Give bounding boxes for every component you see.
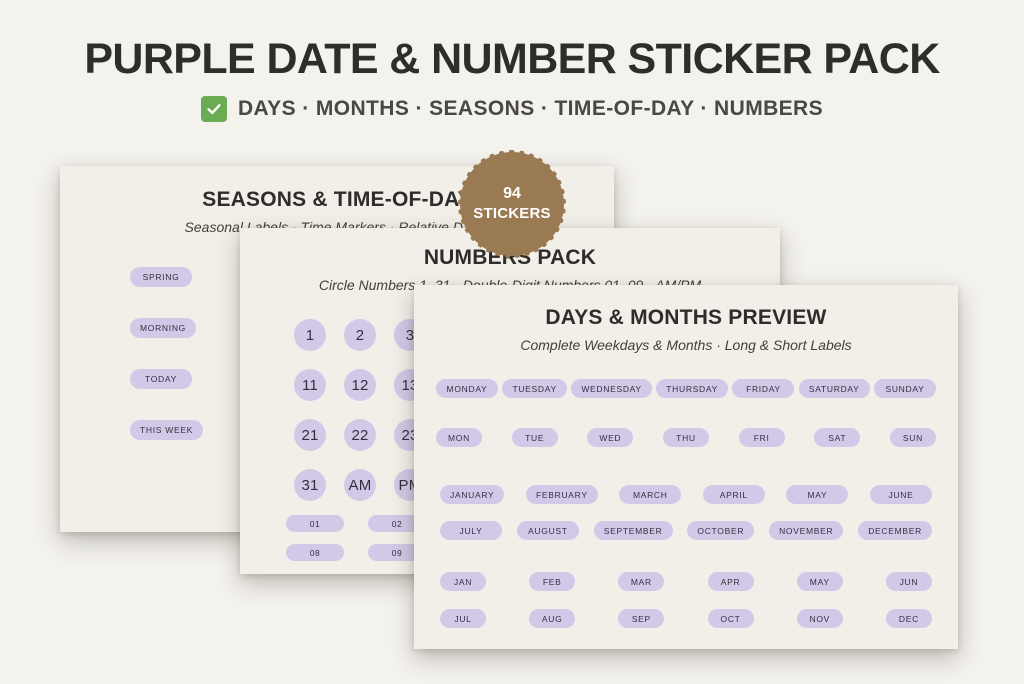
number-sticker[interactable]: 22 (344, 419, 376, 451)
months-long-row-1: JANUARY FEBRUARY MARCH APRIL MAY JUNE (436, 485, 936, 504)
weekday-sticker[interactable]: WEDNESDAY (571, 379, 651, 398)
number-sticker[interactable]: 1 (294, 319, 326, 351)
sticker-count-badge: 94 STICKERS (463, 155, 561, 253)
sticker-pill[interactable]: THIS WEEK (130, 420, 203, 440)
month-sticker[interactable]: DECEMBER (858, 521, 932, 540)
months-short-row-2: JUL AUG SEP OCT NOV DEC (436, 609, 936, 628)
double-digit-sticker[interactable]: 08 (286, 544, 344, 561)
weekday-sticker[interactable]: SUNDAY (874, 379, 936, 398)
month-short-sticker[interactable]: JUN (886, 572, 932, 591)
page-subtitle-text: DAYS · MONTHS · SEASONS · TIME-OF-DAY · … (238, 97, 823, 121)
month-sticker[interactable]: MAY (786, 485, 848, 504)
weekday-short-sticker[interactable]: WED (587, 428, 633, 447)
number-sticker[interactable]: 21 (294, 419, 326, 451)
weekday-short-sticker[interactable]: FRI (739, 428, 785, 447)
month-sticker[interactable]: JULY (440, 521, 502, 540)
month-sticker[interactable]: SEPTEMBER (594, 521, 673, 540)
page-title: PURPLE DATE & NUMBER STICKER PACK (0, 0, 1024, 85)
month-short-sticker[interactable]: AUG (529, 609, 575, 628)
page-header: PURPLE DATE & NUMBER STICKER PACK DAYS ·… (0, 0, 1024, 122)
month-short-sticker[interactable]: APR (708, 572, 754, 591)
weekday-short-sticker[interactable]: MON (436, 428, 482, 447)
month-sticker[interactable]: NOVEMBER (769, 521, 843, 540)
month-sticker[interactable]: FEBRUARY (526, 485, 598, 504)
card-days-months-preview[interactable]: DAYS & MONTHS PREVIEW Complete Weekdays … (414, 285, 958, 649)
month-short-sticker[interactable]: FEB (529, 572, 575, 591)
double-digit-sticker[interactable]: 01 (286, 515, 344, 532)
month-sticker[interactable]: JANUARY (440, 485, 504, 504)
months-short-row-1: JAN FEB MAR APR MAY JUN (436, 572, 936, 591)
month-sticker[interactable]: JUNE (870, 485, 932, 504)
badge-count: 94 (503, 184, 521, 204)
number-sticker[interactable]: 2 (344, 319, 376, 351)
number-sticker[interactable]: 31 (294, 469, 326, 501)
month-short-sticker[interactable]: MAR (618, 572, 664, 591)
weekday-short-sticker[interactable]: THU (663, 428, 709, 447)
weekdays-long-row: MONDAY TUESDAY WEDNESDAY THURSDAY FRIDAY… (436, 379, 936, 398)
sticker-pill[interactable]: SPRING (130, 267, 192, 287)
sticker-pill[interactable]: MORNING (130, 318, 196, 338)
sticker-pill[interactable]: TODAY (130, 369, 192, 389)
month-sticker[interactable]: MARCH (619, 485, 681, 504)
month-sticker[interactable]: OCTOBER (687, 521, 754, 540)
weekday-sticker[interactable]: MONDAY (436, 379, 498, 398)
number-sticker[interactable]: 12 (344, 369, 376, 401)
page-subtitle-row: DAYS · MONTHS · SEASONS · TIME-OF-DAY · … (0, 96, 1024, 122)
weekdays-short-row: MON TUE WED THU FRI SAT SUN (436, 428, 936, 447)
months-long-row-2: JULY AUGUST SEPTEMBER OCTOBER NOVEMBER D… (436, 521, 936, 540)
days-months-body: MONDAY TUESDAY WEDNESDAY THURSDAY FRIDAY… (414, 379, 958, 628)
badge-label: STICKERS (473, 205, 550, 224)
weekday-short-sticker[interactable]: TUE (512, 428, 558, 447)
green-check-icon (201, 96, 227, 122)
month-short-sticker[interactable]: JUL (440, 609, 486, 628)
month-sticker[interactable]: AUGUST (517, 521, 579, 540)
month-short-sticker[interactable]: JAN (440, 572, 486, 591)
month-short-sticker[interactable]: NOV (797, 609, 843, 628)
month-short-sticker[interactable]: MAY (797, 572, 843, 591)
weekday-short-sticker[interactable]: SUN (890, 428, 936, 447)
weekday-short-sticker[interactable]: SAT (814, 428, 860, 447)
weekday-sticker[interactable]: TUESDAY (502, 379, 566, 398)
month-short-sticker[interactable]: OCT (708, 609, 754, 628)
weekday-sticker[interactable]: SATURDAY (799, 379, 870, 398)
card-days-title: DAYS & MONTHS PREVIEW (414, 285, 958, 330)
month-short-sticker[interactable]: DEC (886, 609, 932, 628)
card-days-subtitle: Complete Weekdays & Months · Long & Shor… (414, 337, 958, 353)
month-short-sticker[interactable]: SEP (618, 609, 664, 628)
number-sticker[interactable]: 11 (294, 369, 326, 401)
weekday-sticker[interactable]: THURSDAY (656, 379, 728, 398)
weekday-sticker[interactable]: FRIDAY (732, 379, 794, 398)
meridiem-sticker-am[interactable]: AM (344, 469, 376, 501)
month-sticker[interactable]: APRIL (703, 485, 765, 504)
